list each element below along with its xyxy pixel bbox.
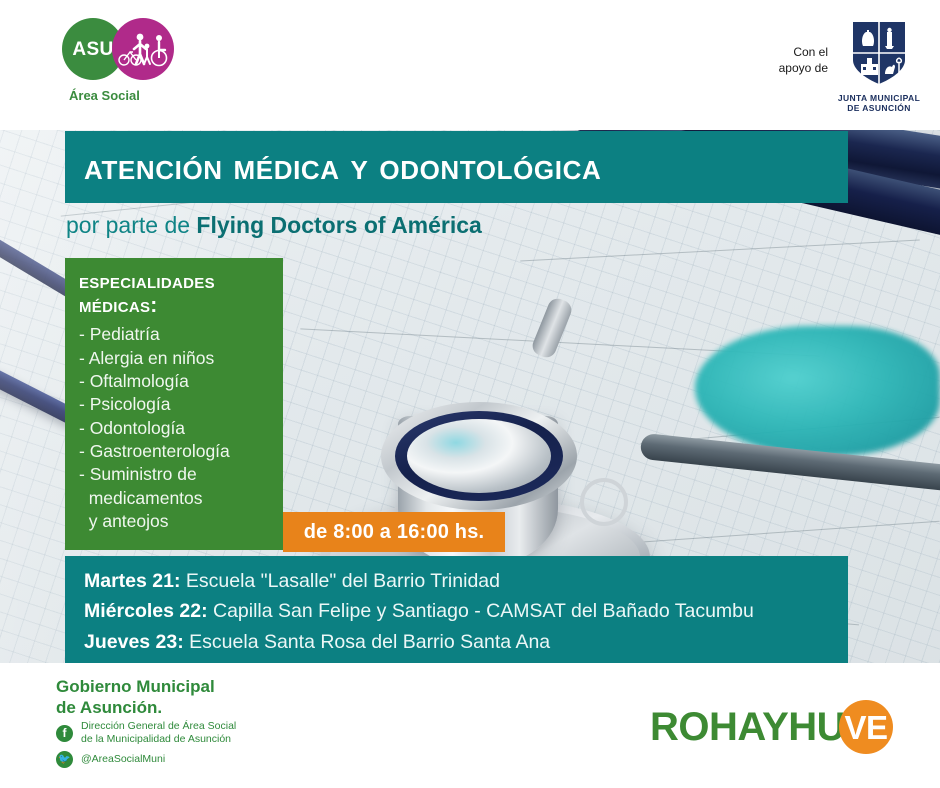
rohayhuve-logo: ROHAYHU VE: [650, 700, 893, 754]
twitter-handle: @AreaSocialMuni: [81, 753, 165, 766]
facebook-text: Dirección General de Área Social de la M…: [81, 720, 236, 747]
accessibility-figures-svg: [118, 30, 168, 70]
hours-badge-text: de 8:00 a 16:00 hs.: [304, 521, 485, 544]
schedule-place: Escuela "Lasalle" del Barrio Trinidad: [180, 570, 500, 592]
schedule-row: Miércoles 22: Capilla San Felipe y Santi…: [84, 596, 848, 626]
specialties-heading: Especialidades médicas:: [79, 270, 283, 318]
list-item: - Psicología: [79, 393, 283, 416]
list-item: - Suministro de: [79, 463, 283, 486]
facebook-line-2: de la Municipalidad de Asunción: [81, 733, 236, 746]
asu-acronym-text: ASU: [72, 40, 113, 59]
support-block: Con el apoyo de: [688, 18, 928, 122]
support-line-2: apoyo de: [718, 60, 828, 76]
specialties-list: - Pediatría - Alergia en niños - Oftalmo…: [79, 323, 283, 533]
schedule-place: Escuela Santa Rosa del Barrio Santa Ana: [184, 631, 550, 653]
specialties-heading-line-2: médicas:: [79, 294, 283, 318]
government-title: Gobierno Municipal de Asunción.: [56, 677, 215, 718]
subtitle-prefix: por parte de: [66, 212, 196, 238]
asu-logo: ASU: [62, 18, 222, 118]
facebook-glyph: f: [56, 725, 73, 742]
list-item: y anteojos: [79, 510, 283, 533]
schedule-band: Martes 21: Escuela "Lasalle" del Barrio …: [65, 556, 848, 663]
specialties-box: Especialidades médicas: - Pediatría - Al…: [65, 258, 283, 550]
support-text: Con el apoyo de: [718, 44, 828, 76]
government-title-line-2: de Asunción.: [56, 698, 215, 719]
specialties-heading-line-1: Especialidades: [79, 270, 215, 293]
rohayhuve-text-green: ROHAYHU: [650, 707, 845, 747]
junta-name-line-1: JUNTA MUNICIPAL: [834, 93, 924, 103]
subtitle: por parte de Flying Doctors of América: [66, 212, 482, 239]
poster-canvas: ASU: [0, 0, 940, 788]
schedule-day: Martes 21:: [84, 570, 180, 592]
rohayhuve-text-ve: VE: [845, 711, 888, 744]
list-item: - Gastroenterología: [79, 440, 283, 463]
twitter-row[interactable]: 🐦 @AreaSocialMuni: [56, 751, 165, 768]
list-item: medicamentos: [79, 487, 283, 510]
title-bar: Atención médica y odontológica: [65, 131, 848, 203]
schedule-day: Jueves 23:: [84, 631, 184, 653]
schedule-row: Martes 21: Escuela "Lasalle" del Barrio …: [84, 566, 848, 596]
list-item: - Alergia en niños: [79, 347, 283, 370]
junta-municipal-name: JUNTA MUNICIPAL DE ASUNCIÓN: [834, 93, 924, 113]
rohayhuve-circle: VE: [839, 700, 893, 754]
schedule-day: Miércoles 22:: [84, 600, 208, 622]
subtitle-organization: Flying Doctors of América: [196, 212, 481, 238]
schedule-place: Capilla San Felipe y Santiago - CAMSAT d…: [208, 600, 754, 622]
junta-municipal-logo: JUNTA MUNICIPAL DE ASUNCIÓN: [834, 20, 924, 113]
facebook-line-1: Dirección General de Área Social: [81, 720, 236, 733]
twitter-glyph: 🐦: [56, 751, 73, 768]
page-title: Atención médica y odontológica: [65, 146, 601, 188]
hours-badge: de 8:00 a 16:00 hs.: [283, 512, 505, 552]
header-band: ASU: [0, 0, 940, 130]
schedule-row: Jueves 23: Escuela Santa Rosa del Barrio…: [84, 627, 848, 657]
asu-logo-label: Área Social: [69, 88, 140, 103]
facebook-icon[interactable]: f: [56, 725, 73, 742]
list-item: - Pediatría: [79, 323, 283, 346]
twitter-bird-icon[interactable]: 🐦: [56, 751, 73, 768]
junta-name-line-2: DE ASUNCIÓN: [834, 103, 924, 113]
accessibility-figures-icon: [112, 18, 174, 80]
asuncion-coat-of-arms-icon: [849, 20, 909, 86]
facebook-row[interactable]: f Dirección General de Área Social de la…: [56, 720, 236, 747]
list-item: - Oftalmología: [79, 370, 283, 393]
government-title-line-1: Gobierno Municipal: [56, 677, 215, 698]
support-line-1: Con el: [718, 44, 828, 60]
list-item: - Odontología: [79, 417, 283, 440]
